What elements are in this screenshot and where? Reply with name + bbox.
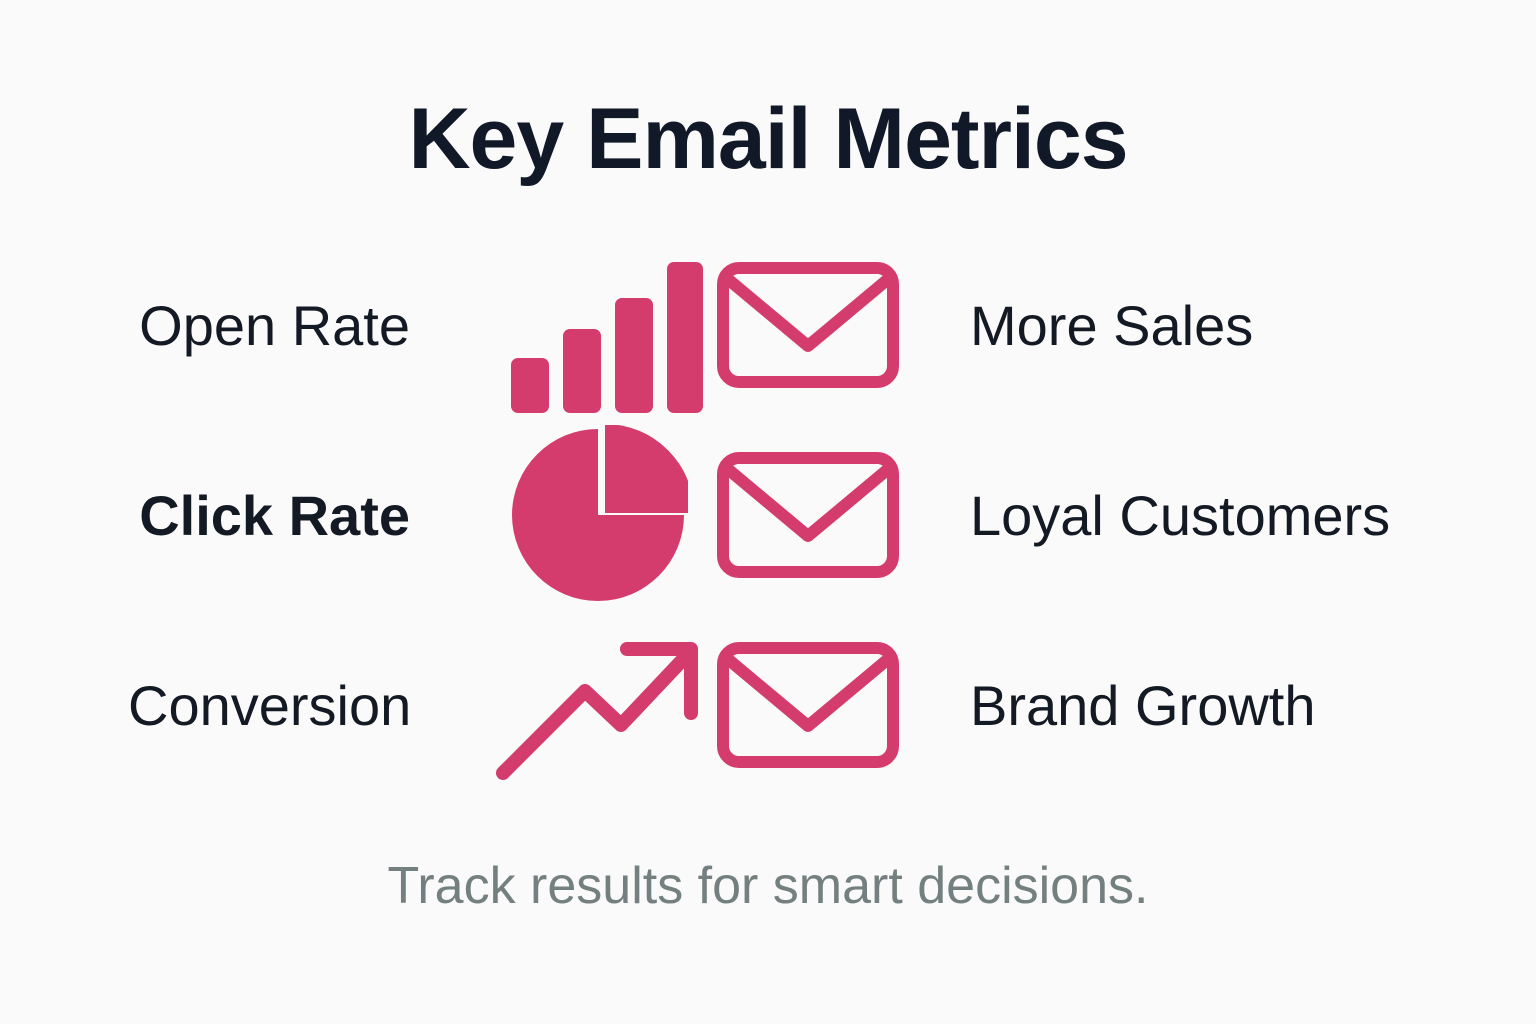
metric-label-open-rate: Open Rate bbox=[128, 293, 488, 358]
metric-row-conversion: Conversion Brand Growth bbox=[0, 610, 1536, 800]
metric-label-conversion: Conversion bbox=[128, 673, 488, 738]
footer-caption: Track results for smart decisions. bbox=[0, 856, 1536, 916]
bar-chart-icon bbox=[488, 238, 708, 413]
metric-label-click-rate: Click Rate bbox=[128, 483, 488, 548]
envelope-icon-more-sales bbox=[708, 262, 908, 388]
outcome-label-more-sales: More Sales bbox=[908, 293, 1408, 358]
outcome-label-loyal-customers: Loyal Customers bbox=[908, 483, 1408, 548]
trending-up-arrow-icon bbox=[488, 625, 708, 785]
pie-chart-icon bbox=[488, 425, 708, 605]
infographic-canvas: Key Email Metrics Open Rate More Sales C… bbox=[0, 0, 1536, 1024]
page-title: Key Email Metrics bbox=[0, 92, 1536, 187]
outcome-label-brand-growth: Brand Growth bbox=[908, 673, 1408, 738]
envelope-icon-loyal-customers bbox=[708, 452, 908, 578]
metric-row-open-rate: Open Rate More Sales bbox=[0, 230, 1536, 420]
metric-row-click-rate: Click Rate Loyal Customers bbox=[0, 420, 1536, 610]
envelope-icon-brand-growth bbox=[708, 642, 908, 768]
